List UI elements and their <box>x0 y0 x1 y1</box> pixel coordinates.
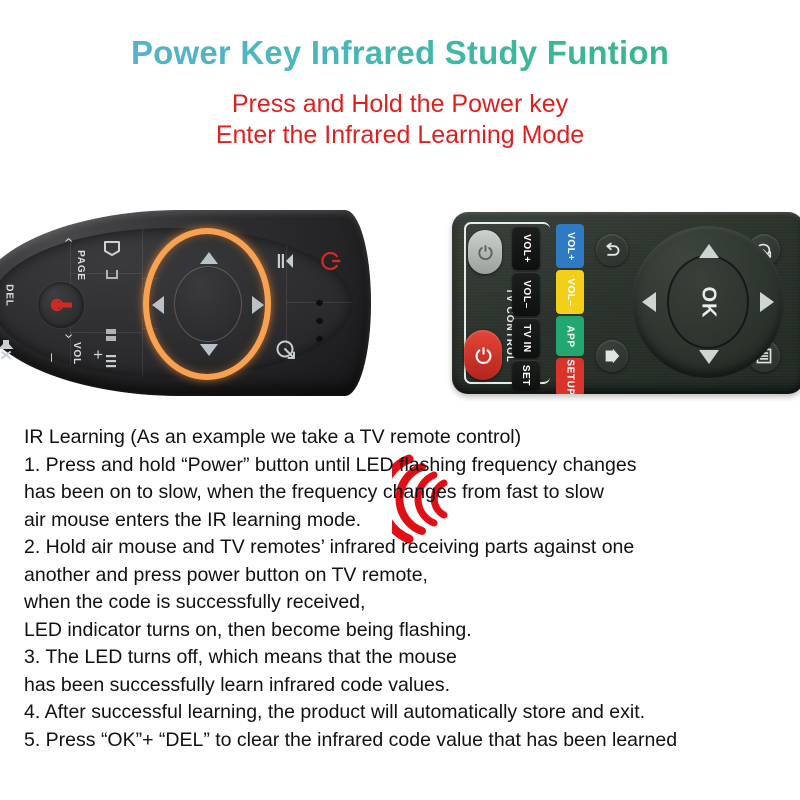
color-button-label: VOL– <box>565 278 576 307</box>
page-title: Power Key Infrared Study Funtion <box>0 34 800 72</box>
air-mouse-mouse-toggle-button[interactable] <box>274 338 298 367</box>
back-icon <box>104 266 120 282</box>
air-mouse-page-label[interactable]: PAGE <box>75 250 86 281</box>
home-icon <box>602 346 622 366</box>
tv-control-button-tv-in[interactable]: TV IN <box>512 318 540 358</box>
power-icon <box>477 244 494 261</box>
instruction-line: has been on to slow, when the frequency … <box>24 479 786 507</box>
instruction-line: 5. Press “OK”+ “DEL” to clear the infrar… <box>24 727 786 755</box>
air-mouse-dpad-down[interactable] <box>200 344 218 356</box>
air-mouse-home-button[interactable] <box>102 238 122 263</box>
tv-control-button-label: SET <box>521 364 532 385</box>
instruction-line: IR Learning (As an example we take a TV … <box>24 424 786 452</box>
power-icon <box>474 346 493 365</box>
mouse-cursor-icon <box>48 295 74 315</box>
page-root: Power Key Infrared Study Funtion Press a… <box>0 0 800 800</box>
devices-stage: DEL PAGE ‹ › VOL – + <box>0 196 800 411</box>
instruction-line: 3. The LED turns off, which means that t… <box>24 644 786 672</box>
tv-control-button-label: VOL+ <box>521 234 532 263</box>
color-button-vol-up[interactable]: VOL+ <box>556 224 584 268</box>
led-dot <box>316 299 323 306</box>
tv-control-power-button[interactable] <box>468 230 502 274</box>
list-icon <box>103 353 119 371</box>
tv-remote-ok-button[interactable]: OK <box>667 255 749 349</box>
color-button-setup[interactable]: SETUP <box>556 358 584 394</box>
air-mouse-del-label[interactable]: DEL <box>4 284 15 306</box>
tv-remote-dpad-down[interactable] <box>699 350 719 364</box>
menu-icon <box>276 250 298 272</box>
ok-label: OK <box>697 286 720 318</box>
instruction-line: LED indicator turns on, then become bein… <box>24 617 786 645</box>
air-mouse-dpad-left[interactable] <box>152 296 164 314</box>
air-mouse-vol-label[interactable]: VOL <box>71 342 82 365</box>
led-indicator-dots <box>316 288 323 353</box>
ir-learning-instructions: IR Learning (As an example we take a TV … <box>24 424 786 754</box>
page-down-icon[interactable]: › <box>61 333 77 338</box>
tv-remote-power-button[interactable] <box>464 330 502 380</box>
home-icon <box>102 238 122 258</box>
subtitle-line-2: Enter the Infrared Learning Mode <box>0 121 800 150</box>
color-button-label: SETUP <box>565 359 576 394</box>
air-mouse-dpad-right[interactable] <box>252 296 264 314</box>
air-mouse-back-button[interactable] <box>104 266 120 287</box>
led-dot <box>316 317 323 324</box>
tv-control-button-label: TV IN <box>521 324 532 353</box>
air-mouse-mouse-button[interactable] <box>38 282 84 328</box>
air-mouse-ok-button[interactable] <box>174 266 242 342</box>
color-button-vol-down[interactable]: VOL– <box>556 270 584 314</box>
tv-remote-dpad-right[interactable] <box>760 292 774 312</box>
power-icon <box>320 250 342 272</box>
color-button-label: APP <box>565 325 576 347</box>
tv-remote-dpad-up[interactable] <box>699 244 719 258</box>
subtitle-line-1: Press and Hold the Power key <box>0 90 800 119</box>
tv-remote-home-button[interactable] <box>596 340 628 372</box>
instruction-line: air mouse enters the IR learning mode. <box>24 507 786 535</box>
air-mouse-power-button[interactable] <box>320 250 342 277</box>
air-mouse-list-button[interactable] <box>102 354 120 375</box>
mouse-toggle-icon <box>274 338 298 362</box>
tv-remote-control: TV CONTROL VOL+ VOL– <box>452 212 800 394</box>
instruction-line: 4. After successful learning, the produc… <box>24 699 786 727</box>
instruction-line: has been successfully learn infrared cod… <box>24 672 786 700</box>
tv-control-button-vol-up[interactable]: VOL+ <box>512 226 540 270</box>
tv-control-button-vol-down[interactable]: VOL– <box>512 272 540 316</box>
air-mouse-dpad-up[interactable] <box>200 252 218 264</box>
volume-down-icon[interactable]: – <box>45 353 60 361</box>
back-icon <box>603 241 622 260</box>
air-mouse-mute-button[interactable] <box>0 338 18 365</box>
instruction-line: when the code is successfully received, <box>24 589 786 617</box>
mute-icon <box>0 337 17 361</box>
instruction-line: 1. Press and hold “Power” button until L… <box>24 452 786 480</box>
page-up-icon[interactable]: ‹ <box>61 237 77 242</box>
led-dot <box>316 335 323 342</box>
color-button-app[interactable]: APP <box>556 316 584 356</box>
instruction-line: another and press power button on TV rem… <box>24 562 786 590</box>
tv-control-button-label: VOL– <box>521 280 532 309</box>
air-mouse-keyboard-button[interactable] <box>102 328 120 349</box>
instruction-line: 2. Hold air mouse and TV remotes’ infrar… <box>24 534 786 562</box>
tv-remote-back-button[interactable] <box>596 234 628 266</box>
air-mouse-remote: DEL PAGE ‹ › VOL – + <box>0 210 371 396</box>
tv-control-button-set[interactable]: SET <box>512 360 540 390</box>
keyboard-icon <box>103 327 119 345</box>
tv-remote-dpad-left[interactable] <box>642 292 656 312</box>
air-mouse-menu-button[interactable] <box>276 250 298 277</box>
color-button-label: VOL+ <box>565 232 576 261</box>
